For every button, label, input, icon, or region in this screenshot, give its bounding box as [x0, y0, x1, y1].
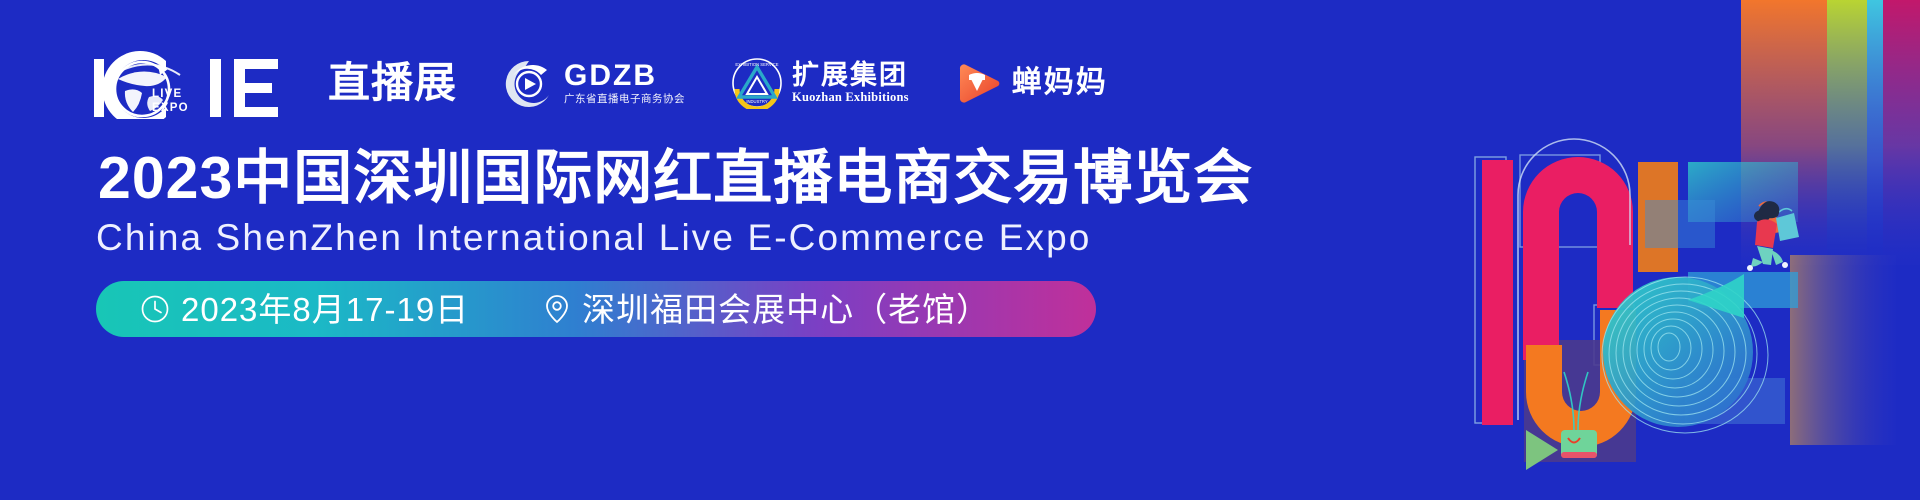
kuozhan-subtitle: Kuozhan Exhibitions [792, 91, 909, 104]
swirl-play-icon [503, 58, 555, 108]
page-title: 2023中国深圳国际网红直播电商交易博览会 [98, 148, 1253, 210]
event-info-pill: 2023年8月17-19日 深圳福田会展中心（老馆） [96, 281, 1096, 337]
chanmama-title: 蝉妈妈 [1012, 68, 1108, 98]
svg-text:INDUSTRY: INDUSTRY [746, 99, 768, 104]
color-bar-green [1827, 0, 1867, 265]
svg-text:EXPO: EXPO [152, 102, 189, 114]
triangle-badge-icon: EXHIBITION SERVICE INDUSTRY [731, 57, 783, 109]
page-subtitle: China ShenZhen International Live E-Comm… [96, 218, 1092, 259]
icie-logo-chinese: 直播展 [328, 62, 457, 104]
clock-icon [140, 294, 170, 324]
gdzb-subtitle: 广东省直播电子商务协会 [564, 94, 685, 105]
color-bar-lower-warm [1790, 255, 1896, 445]
teal-block-2 [1645, 200, 1715, 248]
icie-live-expo-logo: LIVE EXPO 直播展 [92, 46, 457, 120]
artwork-svg [1460, 0, 1920, 500]
event-date-text: 2023年8月17-19日 [181, 293, 469, 326]
logo-row: LIVE EXPO 直播展 GDZB 广东 [92, 44, 1108, 122]
svg-text:LIVE: LIVE [152, 88, 182, 100]
kuozhan-logo[interactable]: EXHIBITION SERVICE INDUSTRY 扩展集团 Kuozhan… [731, 44, 909, 122]
svg-text:EXHIBITION SERVICE: EXHIBITION SERVICE [735, 62, 778, 67]
icie-decorative-graphic [1460, 0, 1920, 500]
location-pin-icon [543, 293, 571, 325]
color-bar-cyan [1867, 0, 1883, 265]
color-bar-magenta [1883, 0, 1920, 265]
kuozhan-title: 扩展集团 [792, 62, 909, 89]
icie-logo-mark: LIVE EXPO [92, 47, 322, 119]
chanmama-logo[interactable]: 蝉妈妈 [955, 44, 1108, 122]
event-venue: 深圳福田会展中心（老馆） [543, 293, 990, 326]
event-venue-text: 深圳福田会展中心（老馆） [582, 293, 990, 326]
pink-c-stem [1523, 250, 1559, 360]
gdzb-logo[interactable]: GDZB 广东省直播电子商务协会 [503, 44, 685, 122]
orange-play-icon [955, 59, 1003, 107]
pink-c-shape [1523, 157, 1633, 258]
event-date: 2023年8月17-19日 [140, 293, 469, 326]
expo-banner: LIVE EXPO 直播展 GDZB 广东 [0, 0, 1920, 500]
gdzb-title: GDZB [564, 61, 685, 91]
pink-letter-i [1482, 160, 1513, 425]
